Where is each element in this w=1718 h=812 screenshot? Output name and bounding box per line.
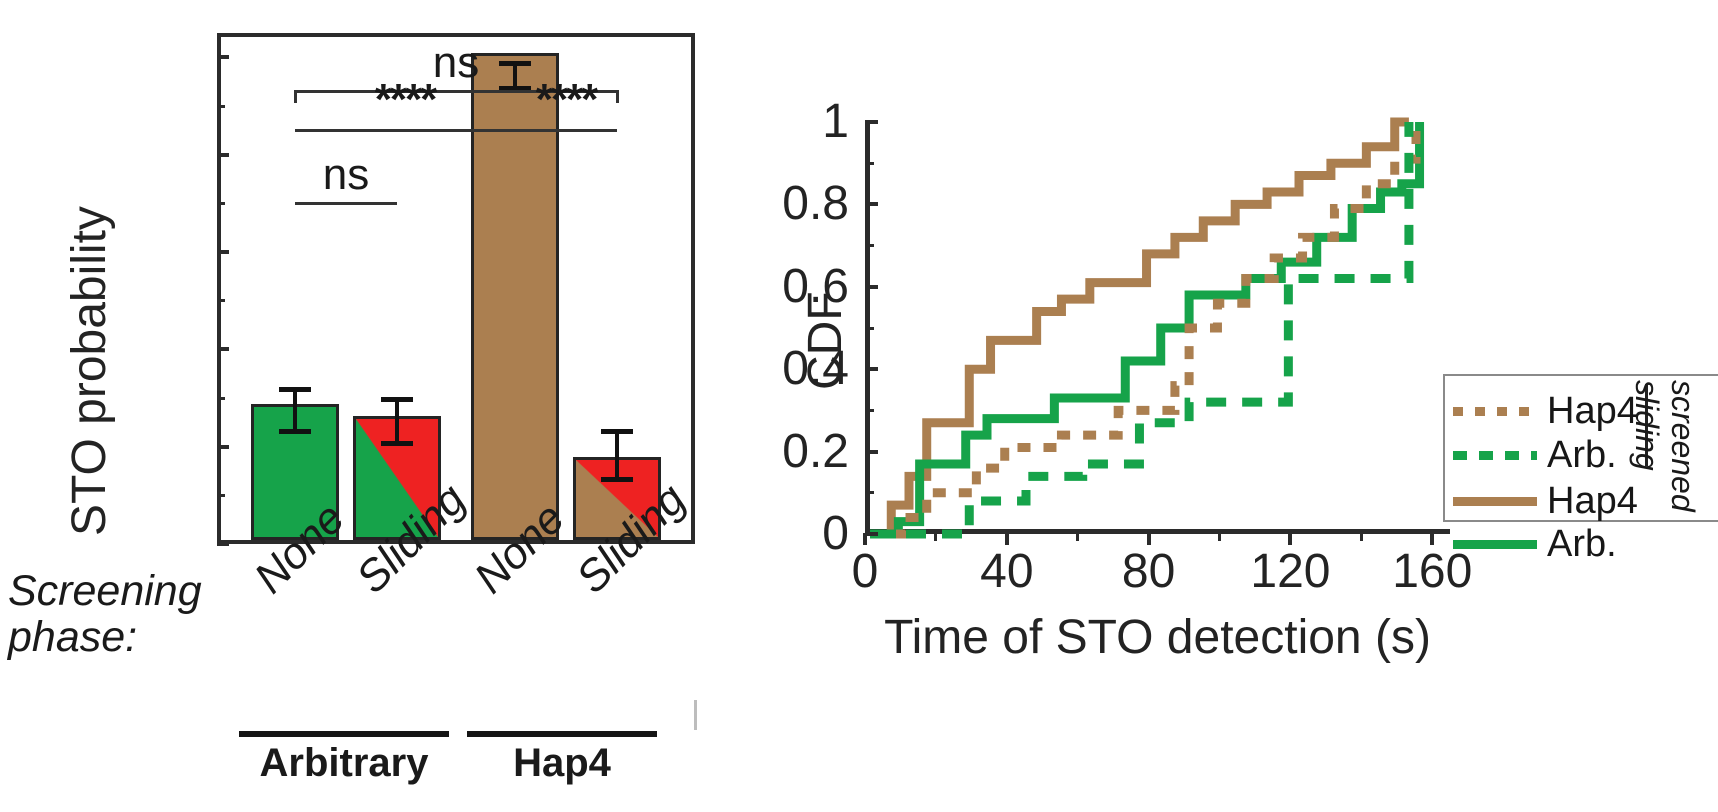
panel-separator (694, 700, 697, 730)
cdf-y-tick-mark (865, 285, 878, 289)
significance-bracket-tick (294, 90, 297, 103)
legend-entry-1[interactable]: Arb. (1453, 434, 1617, 477)
error-cap-top (381, 397, 413, 402)
cdf-series-0 (870, 122, 1409, 534)
legend-bracket-label-line1: screened (1667, 380, 1699, 512)
cdf-y-tick-mark (865, 202, 878, 206)
panel-cdf-chart: CDF Hap4Arb.Hap4Arb. screened sliding 04… (760, 0, 1718, 812)
legend-swatch-dashed-green (1453, 451, 1537, 460)
significance-label: ns (323, 150, 369, 200)
cdf-y-tick-mark (865, 120, 878, 124)
cdf-y-tick-mark (865, 450, 878, 454)
cdf-x-tick-mark (1005, 533, 1009, 545)
bar-2 (471, 53, 559, 540)
group-underline-hap4 (467, 731, 657, 737)
legend-label: Hap4 (1547, 390, 1638, 433)
cdf-x-tick-label: 80 (1122, 548, 1175, 596)
error-bar-3 (615, 429, 619, 483)
cdf-x-tick-label: 40 (980, 548, 1033, 596)
legend-label: Arb. (1547, 523, 1617, 566)
error-cap-top (279, 387, 311, 392)
bar-chart-y-axis-title: STO probability (62, 206, 117, 536)
cdf-x-tick-label: 160 (1392, 548, 1472, 596)
bar-y-tick-mark (217, 153, 229, 157)
cdf-y-tick-label: 0.6 (782, 263, 849, 311)
cdf-x-tick-label: 120 (1250, 548, 1330, 596)
cdf-y-minor-tick (865, 327, 874, 330)
bar-y-tick-mark (217, 542, 229, 546)
bar-y-tick-mark (217, 250, 229, 254)
error-cap-bottom (381, 441, 413, 446)
cdf-x-minor-tick (1076, 533, 1079, 541)
cdf-x-tick-mark (1430, 533, 1434, 545)
error-bar-2 (513, 61, 517, 90)
cdf-y-tick-label: 0.8 (782, 180, 849, 228)
bar-y-tick-mark (217, 347, 229, 351)
cdf-y-tick-label: 0.4 (782, 345, 849, 393)
cdf-legend[interactable]: Hap4Arb.Hap4Arb. screened sliding (1443, 374, 1718, 522)
legend-bracket-label-line2: sliding (1631, 380, 1663, 471)
legend-label: Arb. (1547, 434, 1617, 477)
error-cap-top (499, 61, 531, 66)
bar-y-minor-tick (217, 202, 225, 205)
significance-bracket-tick (616, 90, 619, 103)
cdf-y-tick-mark (865, 532, 878, 536)
significance-line-starstarstarstar (295, 129, 515, 132)
screening-phase-line2: phase: (8, 614, 202, 660)
bar-y-minor-tick (217, 105, 225, 108)
figure-root: STO probability Screening phase: ns*****… (0, 0, 1718, 812)
cdf-x-minor-tick (934, 533, 937, 541)
cdf-curves (870, 122, 1455, 534)
cdf-x-tick-mark (1147, 533, 1151, 545)
group-label-arbitrary: Arbitrary (260, 741, 429, 786)
group-underline-arbitrary (239, 731, 449, 737)
significance-label: **** (536, 75, 597, 125)
cdf-x-axis-title: Time of STO detection (s) (884, 610, 1431, 665)
legend-swatch-dotted-brown (1453, 407, 1537, 416)
panel-bar-chart: STO probability Screening phase: ns*****… (0, 0, 760, 812)
legend-label: Hap4 (1547, 480, 1638, 523)
group-label-hap4: Hap4 (513, 741, 611, 786)
significance-label: **** (375, 75, 436, 125)
error-bar-1 (395, 397, 399, 446)
screening-phase-label: Screening phase: (8, 568, 202, 661)
cdf-y-tick-label: 0 (822, 510, 849, 558)
cdf-x-tick-mark (1288, 533, 1292, 545)
legend-entry-3[interactable]: Arb. (1453, 523, 1617, 566)
cdf-y-minor-tick (865, 162, 874, 165)
bar-chart-axes: ns********ns (217, 33, 695, 544)
cdf-series-1 (870, 122, 1420, 534)
bar-y-minor-tick (217, 494, 225, 497)
cdf-x-minor-tick (1218, 533, 1221, 541)
legend-entry-2[interactable]: Hap4 (1453, 480, 1638, 523)
legend-entry-0[interactable]: Hap4 (1453, 390, 1638, 433)
cdf-series-3 (870, 122, 1409, 534)
cdf-y-tick-label: 1 (822, 98, 849, 146)
bar-y-minor-tick (217, 299, 225, 302)
legend-swatch-solid-brown (1453, 497, 1537, 506)
screening-phase-line1: Screening (8, 568, 202, 614)
bar-y-tick-mark (217, 55, 229, 59)
significance-line-ns (295, 202, 397, 205)
significance-label: ns (433, 38, 479, 88)
error-cap-top (601, 429, 633, 434)
cdf-x-tick-label: 0 (852, 548, 879, 596)
cdf-axes: Hap4Arb.Hap4Arb. screened sliding (865, 122, 1450, 534)
cdf-y-minor-tick (865, 244, 874, 247)
cdf-y-minor-tick (865, 409, 874, 412)
bar-y-tick-mark (217, 445, 229, 449)
error-cap-bottom (601, 477, 633, 482)
significance-line-starstarstarstar (515, 129, 617, 132)
cdf-y-tick-label: 0.2 (782, 428, 849, 476)
bar-y-minor-tick (217, 397, 225, 400)
cdf-series-2 (870, 122, 1416, 534)
cdf-y-tick-mark (865, 367, 878, 371)
cdf-x-minor-tick (1360, 533, 1363, 541)
error-bar-0 (293, 387, 297, 433)
error-cap-bottom (279, 429, 311, 434)
cdf-y-minor-tick (865, 491, 874, 494)
